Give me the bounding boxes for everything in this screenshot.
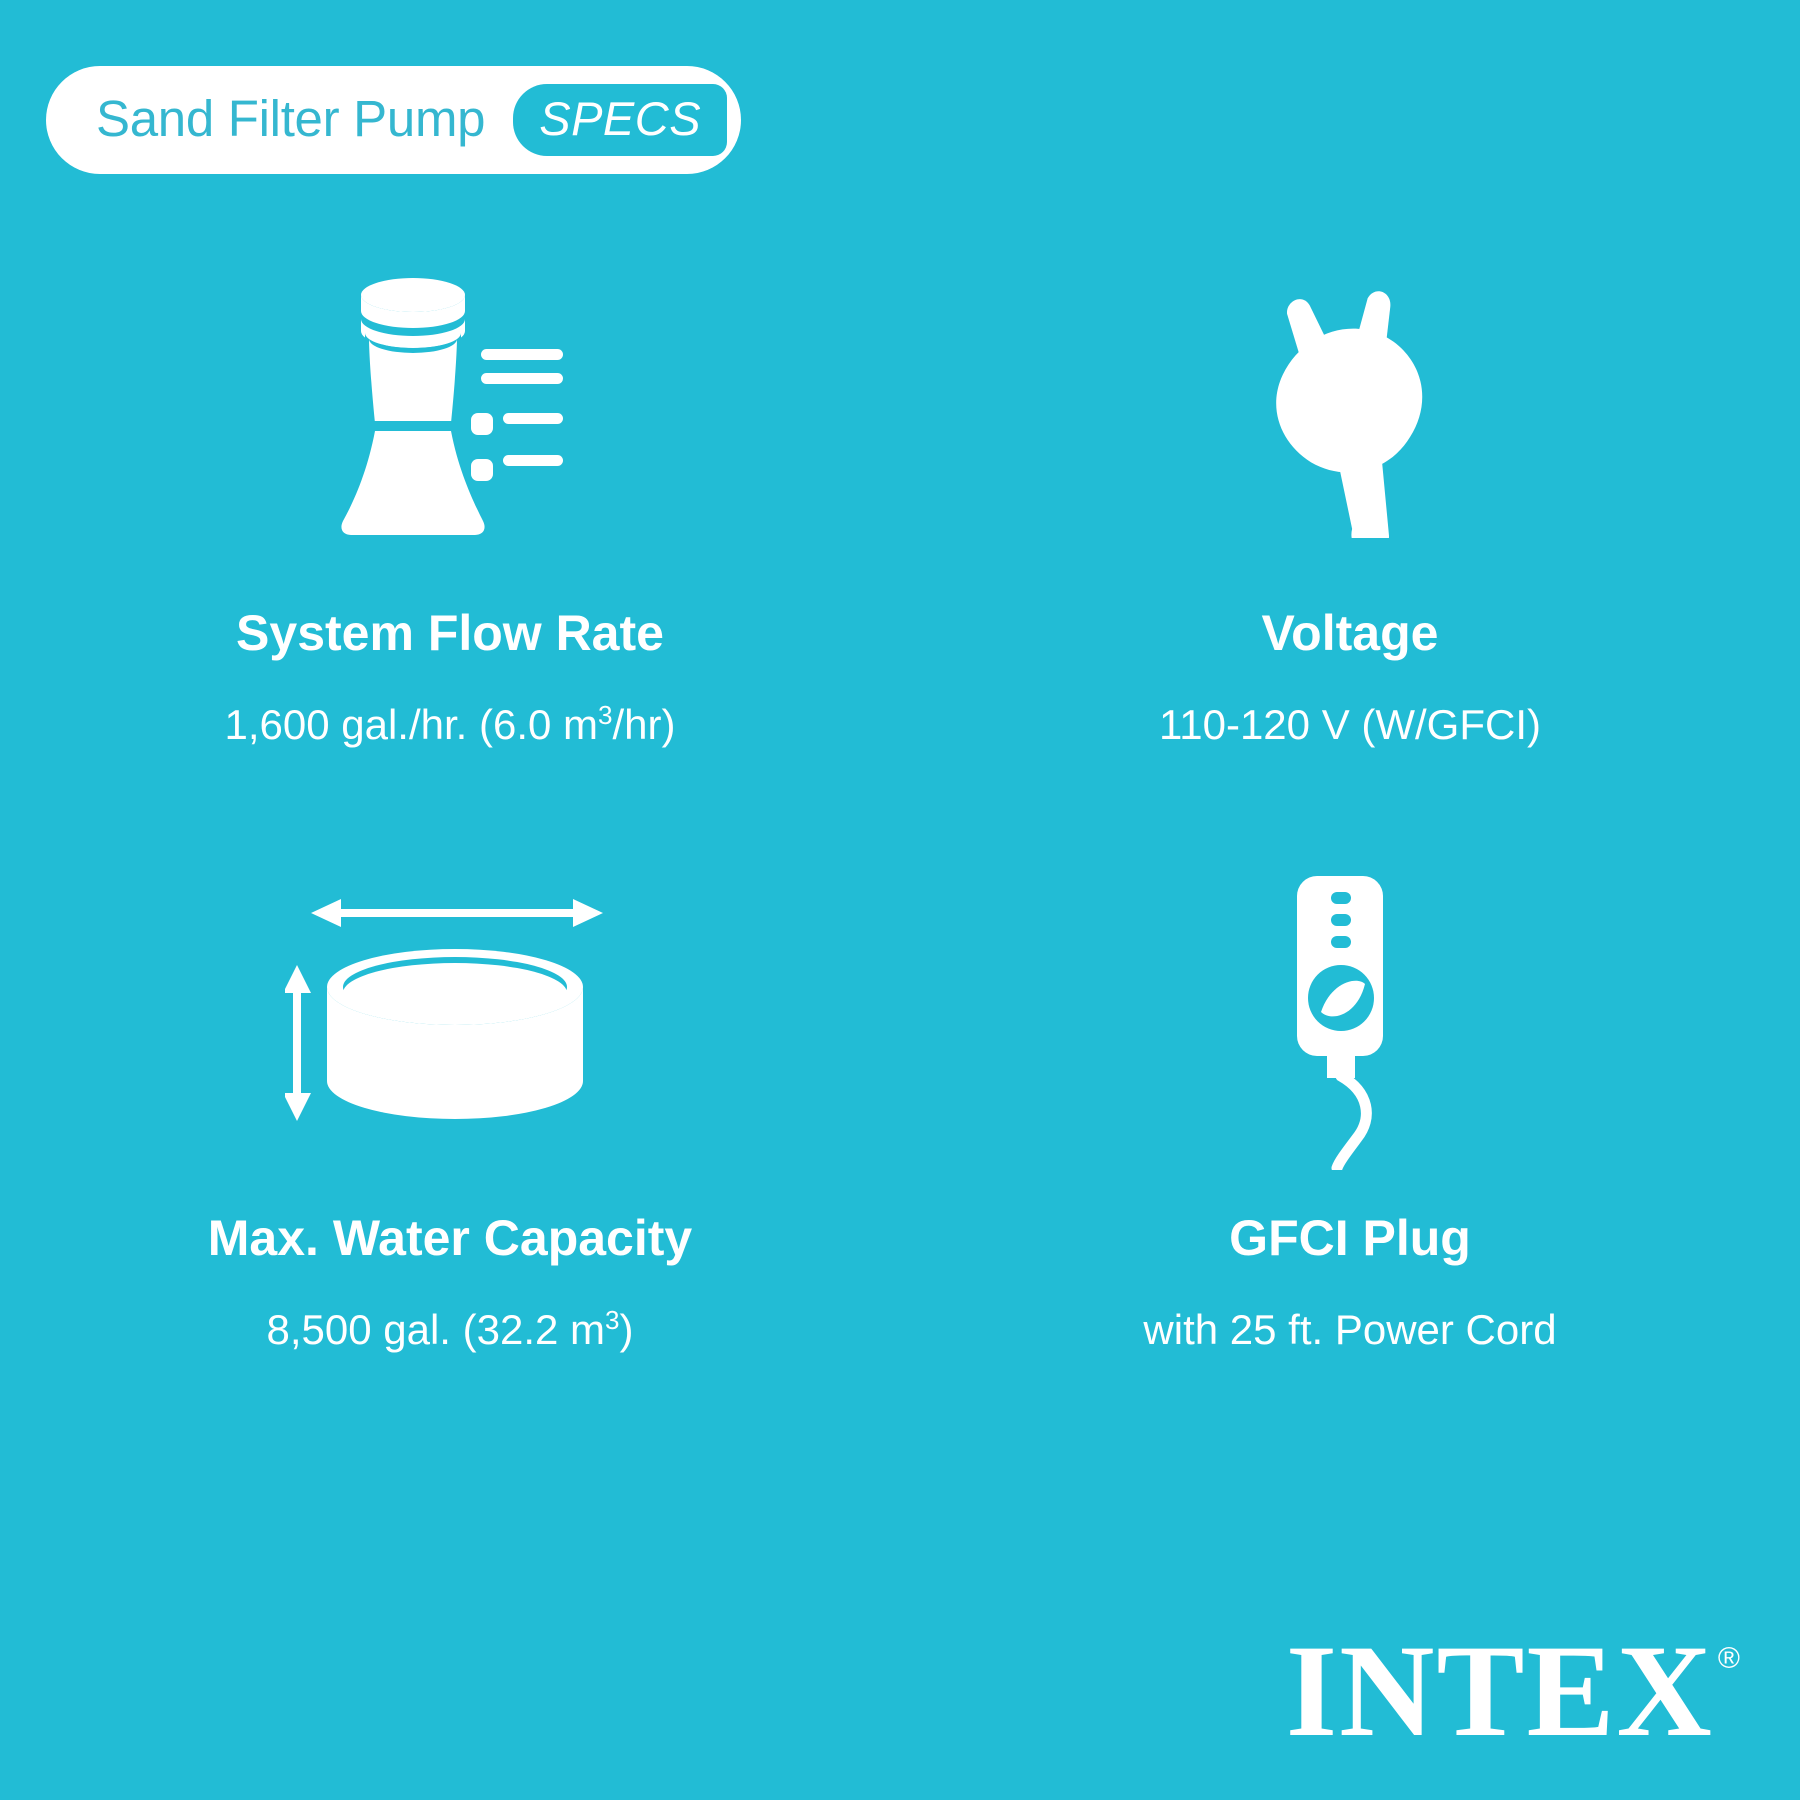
header-pill: Sand Filter Pump SPECS (46, 66, 741, 174)
spec-value-prefix: 1,600 gal./hr. (6.0 m (224, 701, 598, 748)
spec-icon-wrap (1215, 250, 1485, 580)
status-badge: SPECS (513, 84, 727, 156)
spec-label: GFCI Plug (1229, 1213, 1471, 1263)
spec-value-suffix: ) (620, 1306, 634, 1353)
spec-value-suffix: /hr) (613, 701, 676, 748)
spec-label: System Flow Rate (236, 608, 664, 658)
gfci-plug-cord-icon (1265, 870, 1435, 1175)
spec-value-prefix: with 25 ft. Power Cord (1143, 1306, 1556, 1353)
brand-name: INTEX (1286, 1634, 1714, 1748)
spec-card-gfci-plug: GFCI Plug with 25 ft. Power Cord (900, 850, 1800, 1450)
spec-value: with 25 ft. Power Cord (1143, 1309, 1556, 1351)
spec-value: 1,600 gal./hr. (6.0 m3/hr) (224, 704, 675, 746)
spec-card-voltage: Voltage 110-120 V (W/GFCI) (900, 250, 1800, 850)
spec-icon-wrap (285, 850, 615, 1195)
spec-card-max-water-capacity: Max. Water Capacity 8,500 gal. (32.2 m3) (0, 850, 900, 1450)
spec-grid: System Flow Rate 1,600 gal./hr. (6.0 m3/… (0, 250, 1800, 1450)
registered-trademark-icon: ® (1718, 1644, 1740, 1674)
page-title: Sand Filter Pump (96, 93, 485, 148)
spec-value-prefix: 8,500 gal. (32.2 m (266, 1306, 605, 1353)
spec-label: Max. Water Capacity (208, 1213, 692, 1263)
spec-value-superscript: 3 (605, 1305, 619, 1335)
spec-card-system-flow-rate: System Flow Rate 1,600 gal./hr. (6.0 m3/… (0, 250, 900, 850)
spec-label: Voltage (1262, 608, 1439, 658)
pool-dimensions-cylinder-icon (285, 895, 615, 1150)
power-plug-icon (1215, 288, 1485, 543)
spec-icon-wrap (335, 250, 565, 580)
spec-value: 8,500 gal. (32.2 m3) (266, 1309, 633, 1351)
brand-logo: INTEX ® (1286, 1634, 1740, 1748)
spec-icon-wrap (1265, 850, 1435, 1195)
sand-filter-pump-icon (335, 273, 565, 558)
spec-value-superscript: 3 (598, 700, 612, 730)
spec-value-prefix: 110-120 V (W/GFCI) (1159, 701, 1541, 748)
spec-value: 110-120 V (W/GFCI) (1159, 704, 1541, 746)
